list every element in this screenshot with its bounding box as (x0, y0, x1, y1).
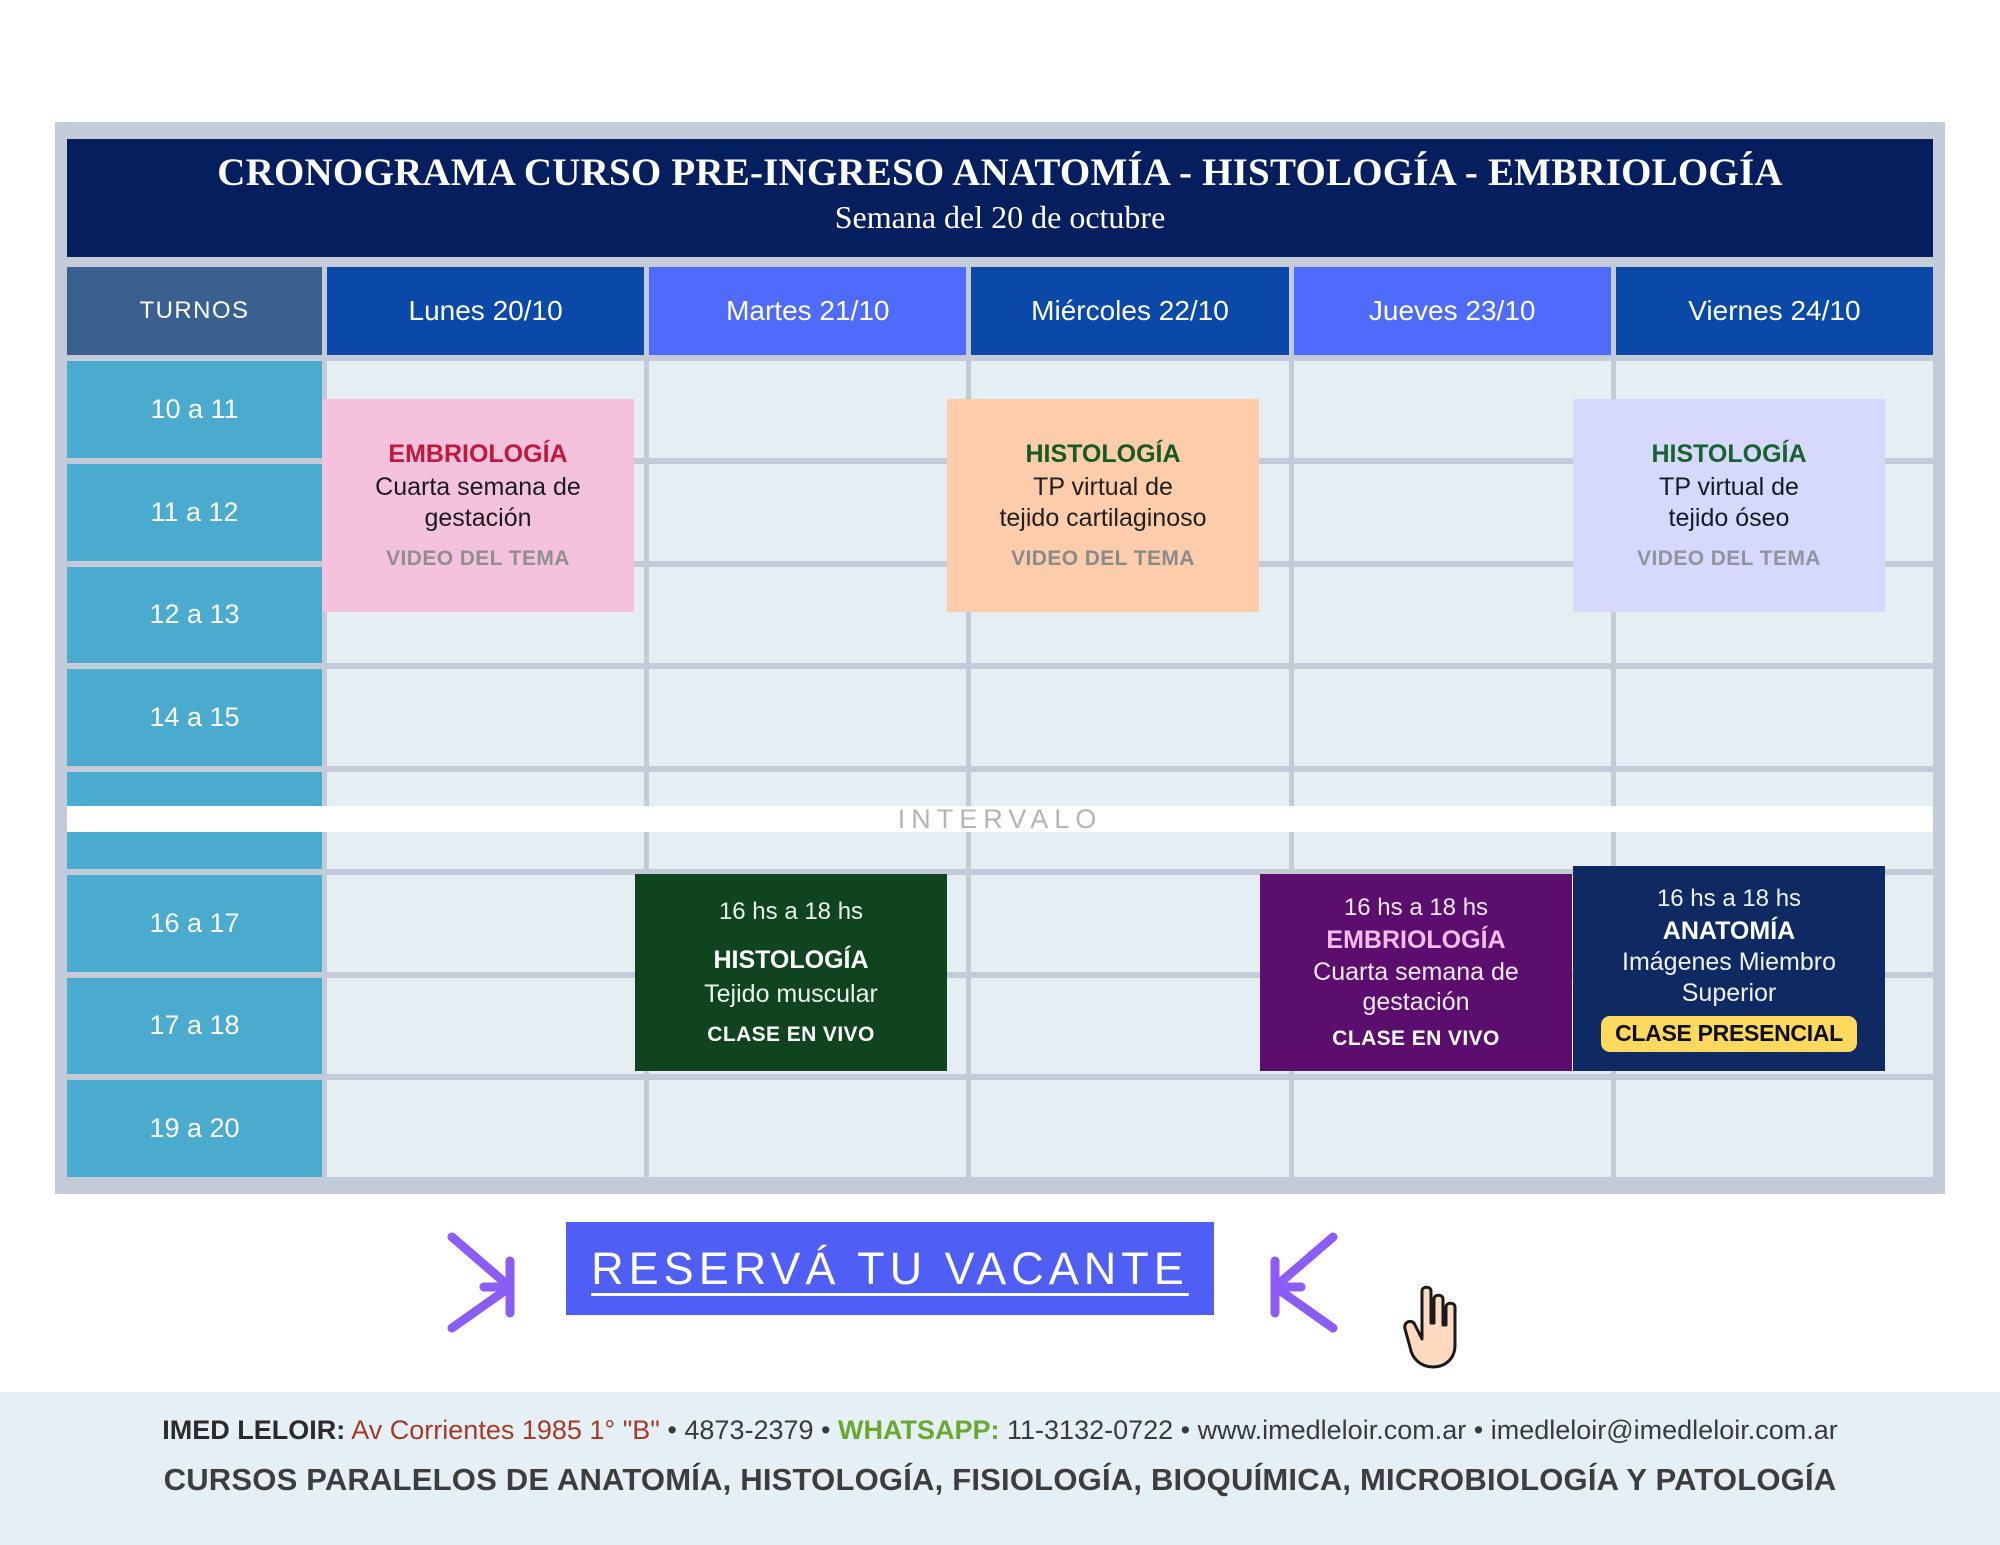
class-time: 16 hs a 18 hs (719, 898, 863, 927)
time-slot-16-17: 16 a 17 (67, 875, 322, 972)
intervalo-strip: INTERVALO (67, 806, 1933, 832)
pointing-hand-icon (1400, 1283, 1464, 1369)
cell-viernes-19-20 (1616, 1080, 1933, 1177)
arrow-left-icon (440, 1225, 570, 1340)
class-detail-line1: TP virtual de (1033, 472, 1173, 503)
footer: IMED LELOIR: Av Corrientes 1985 1° "B" •… (0, 1392, 2000, 1545)
time-slot-17-18: 17 a 18 (67, 978, 322, 1075)
column-header-lunes: Lunes 20/10 (327, 267, 644, 355)
title-banner: CRONOGRAMA CURSO PRE-INGRESO ANATOMÍA - … (67, 139, 1933, 257)
page-title: CRONOGRAMA CURSO PRE-INGRESO ANATOMÍA - … (67, 152, 1933, 194)
class-detail-line2: tejido óseo (1669, 503, 1790, 534)
class-subject: HISTOLOGÍA (713, 946, 868, 975)
class-subject: HISTOLOGÍA (1651, 440, 1806, 469)
cell-jueves-12-13 (1294, 567, 1611, 664)
cell-miercoles-19-20 (971, 1080, 1288, 1177)
footer-separator-3: • (1181, 1415, 1190, 1445)
time-slot-19-20: 19 a 20 (67, 1080, 322, 1177)
class-detail-line2: gestación (1362, 987, 1469, 1018)
class-subject: EMBRIOLOGÍA (388, 440, 567, 469)
class-tag-vivo: CLASE EN VIVO (1332, 1027, 1499, 1051)
class-tag-video: VIDEO DEL TEMA (1011, 547, 1195, 571)
cell-lunes-16-17 (327, 875, 644, 972)
footer-separator-1: • (667, 1415, 676, 1445)
class-card-anatomia-viernes[interactable]: 16 hs a 18 hs ANATOMÍA Imágenes Miembro … (1573, 866, 1885, 1071)
footer-email[interactable]: imedleloir@imedleloir.com.ar (1491, 1415, 1838, 1445)
footer-address: Av Corrientes 1985 1° "B" (351, 1415, 660, 1445)
cta-section: RESERVÁ TU VACANTE (0, 1215, 2000, 1365)
cell-viernes-14-15 (1616, 669, 1933, 766)
class-detail-line1: TP virtual de (1659, 472, 1799, 503)
status-badge-presencial: CLASE PRESENCIAL (1601, 1016, 1857, 1052)
cell-martes-19-20 (649, 1080, 966, 1177)
cell-martes-12-13 (649, 567, 966, 664)
footer-separator-2: • (821, 1415, 830, 1445)
arrow-right-icon (1215, 1225, 1345, 1340)
footer-website[interactable]: www.imedleloir.com.ar (1198, 1415, 1467, 1445)
cell-lunes-14-15 (327, 669, 644, 766)
footer-phone: 4873-2379 (684, 1415, 813, 1445)
cell-martes-10-11 (649, 361, 966, 458)
class-detail-line2: tejido cartilaginoso (999, 503, 1206, 534)
footer-whatsapp-label: WHATSAPP: (838, 1415, 1000, 1445)
class-subject: ANATOMÍA (1663, 917, 1795, 946)
time-slot-11-12: 11 a 12 (67, 464, 322, 561)
column-header-viernes: Viernes 24/10 (1616, 267, 1933, 355)
cell-jueves-11-12 (1294, 464, 1611, 561)
cell-miercoles-17-18 (971, 978, 1288, 1075)
class-card-histologia-viernes[interactable]: HISTOLOGÍA TP virtual de tejido óseo VID… (1573, 399, 1885, 612)
column-header-martes: Martes 21/10 (649, 267, 966, 355)
class-subject: HISTOLOGÍA (1025, 440, 1180, 469)
class-tag-video: VIDEO DEL TEMA (386, 547, 570, 571)
cell-miercoles-16-17 (971, 875, 1288, 972)
class-detail-line2: gestación (424, 503, 531, 534)
time-slot-14-15: 14 a 15 (67, 669, 322, 766)
class-detail-line1: Cuarta semana de (1313, 957, 1519, 988)
class-detail-line1: Imágenes Miembro (1622, 947, 1836, 978)
page-subtitle: Semana del 20 de octubre (67, 197, 1933, 237)
cell-jueves-14-15 (1294, 669, 1611, 766)
cell-lunes-17-18 (327, 978, 644, 1075)
column-header-jueves: Jueves 23/10 (1294, 267, 1611, 355)
schedule-poster: CRONOGRAMA CURSO PRE-INGRESO ANATOMÍA - … (0, 0, 2000, 1545)
class-time: 16 hs a 18 hs (1657, 885, 1801, 914)
time-slot-12-13: 12 a 13 (67, 567, 322, 664)
footer-contact-line: IMED LELOIR: Av Corrientes 1985 1° "B" •… (0, 1414, 2000, 1446)
footer-courses-line: CURSOS PARALELOS DE ANATOMÍA, HISTOLOGÍA… (0, 1462, 2000, 1498)
class-tag-video: VIDEO DEL TEMA (1637, 547, 1821, 571)
class-card-embriologia-lunes[interactable]: EMBRIOLOGÍA Cuarta semana de gestación V… (322, 399, 634, 612)
footer-org-label: IMED LELOIR: (162, 1415, 345, 1445)
reserve-button[interactable]: RESERVÁ TU VACANTE (566, 1222, 1214, 1315)
class-card-histologia-miercoles[interactable]: HISTOLOGÍA TP virtual de tejido cartilag… (947, 399, 1259, 612)
class-detail-line1: Tejido muscular (704, 979, 878, 1010)
cell-jueves-10-11 (1294, 361, 1611, 458)
footer-separator-4: • (1474, 1415, 1483, 1445)
class-subject: EMBRIOLOGÍA (1326, 926, 1505, 955)
class-detail-line1: Cuarta semana de (375, 472, 581, 503)
time-slot-10-11: 10 a 11 (67, 361, 322, 458)
cell-jueves-19-20 (1294, 1080, 1611, 1177)
intervalo-label: INTERVALO (898, 804, 1103, 835)
class-tag-vivo: CLASE EN VIVO (707, 1023, 874, 1047)
cell-miercoles-14-15 (971, 669, 1288, 766)
cell-lunes-19-20 (327, 1080, 644, 1177)
schedule-frame: CRONOGRAMA CURSO PRE-INGRESO ANATOMÍA - … (55, 122, 1945, 1194)
column-header-miercoles: Miércoles 22/10 (971, 267, 1288, 355)
cell-martes-11-12 (649, 464, 966, 561)
class-detail-line2: Superior (1682, 978, 1777, 1009)
cell-martes-14-15 (649, 669, 966, 766)
column-header-turnos: TURNOS (67, 267, 322, 355)
class-card-histologia-martes[interactable]: 16 hs a 18 hs HISTOLOGÍA Tejido muscular… (635, 874, 947, 1071)
class-card-embriologia-jueves[interactable]: 16 hs a 18 hs EMBRIOLOGÍA Cuarta semana … (1260, 874, 1572, 1071)
footer-whatsapp-number: 11-3132-0722 (1007, 1415, 1173, 1445)
class-time: 16 hs a 18 hs (1344, 894, 1488, 923)
reserve-button-label: RESERVÁ TU VACANTE (591, 1243, 1189, 1295)
